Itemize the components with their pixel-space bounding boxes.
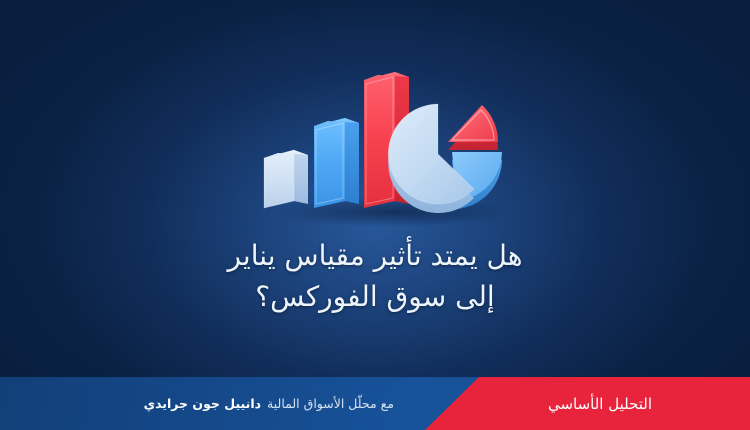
footer-author-credit: مع محلّل الأسواق المالية دانييل جون جراي… [0, 377, 420, 430]
bar-1-pale [264, 150, 308, 208]
footer-category-label: التحليل الأساسي [548, 395, 652, 413]
footer-credit-lead: مع محلّل الأسواق المالية [267, 396, 394, 411]
headline-line-1: هل يمتد تأثير مقياس يناير [90, 236, 660, 277]
bar-2-blue [314, 118, 359, 208]
footer-author-name: دانييل جون جرايدي [144, 396, 261, 411]
footer-category: التحليل الأساسي [450, 377, 750, 430]
pie-slice-red [448, 105, 498, 150]
headline-line-2: إلى سوق الفوركس؟ [90, 277, 660, 318]
promo-banner: هل يمتد تأثير مقياس يناير إلى سوق الفورك… [0, 0, 750, 430]
footer-bar: مع محلّل الأسواق المالية دانييل جون جراي… [0, 377, 750, 430]
headline: هل يمتد تأثير مقياس يناير إلى سوق الفورك… [0, 236, 750, 318]
chart-illustration [252, 58, 508, 226]
